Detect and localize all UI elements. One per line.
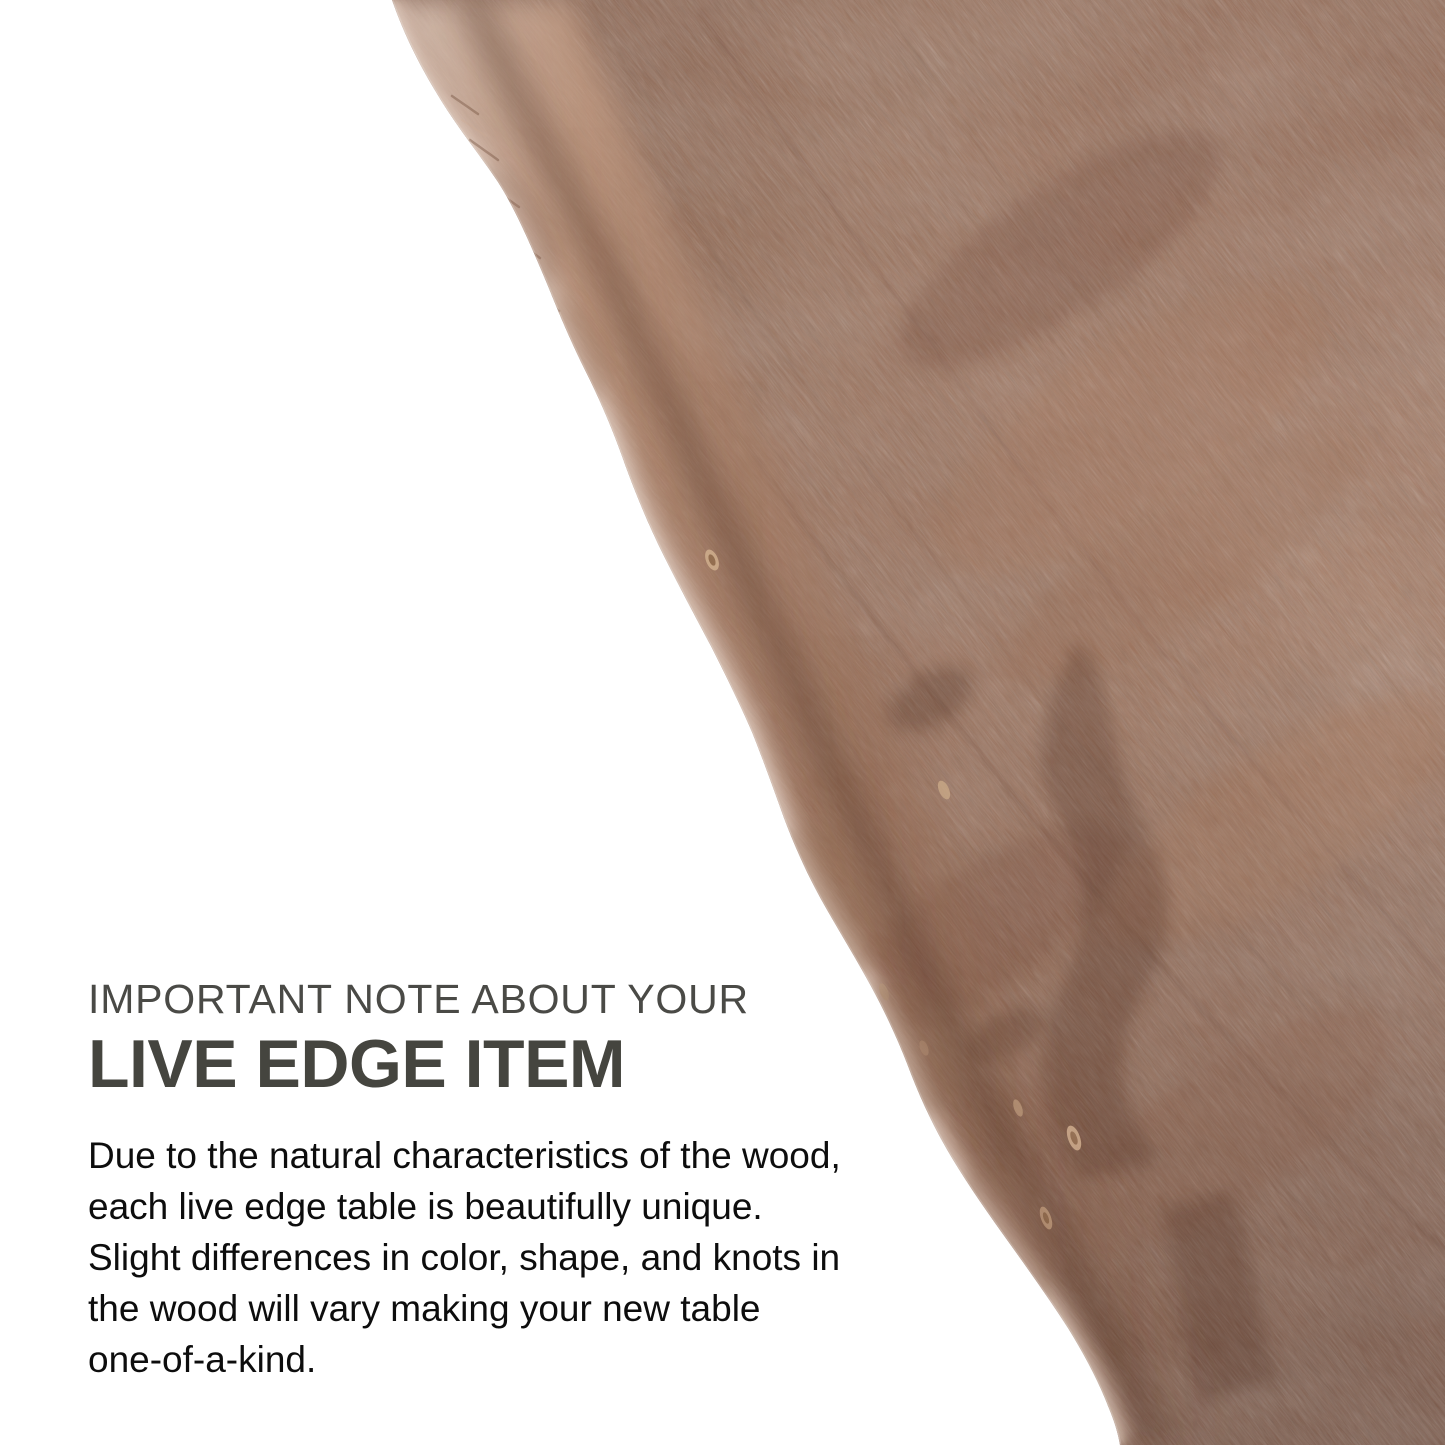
page-title: LIVE EDGE ITEM	[88, 1026, 848, 1102]
body-paragraph: Due to the natural characteristics of th…	[88, 1130, 848, 1385]
body-line: Slight differences in color, shape, and …	[88, 1232, 848, 1283]
note-text-block: IMPORTANT NOTE ABOUT YOUR LIVE EDGE ITEM…	[88, 975, 848, 1385]
product-note-card: IMPORTANT NOTE ABOUT YOUR LIVE EDGE ITEM…	[0, 0, 1445, 1445]
body-line: Due to the natural characteristics of th…	[88, 1130, 848, 1181]
eyebrow-heading: IMPORTANT NOTE ABOUT YOUR	[88, 975, 848, 1024]
body-line: each live edge table is beautifully uniq…	[88, 1181, 848, 1232]
body-line: one-of-a-kind.	[88, 1334, 848, 1385]
body-line: the wood will vary making your new table	[88, 1283, 848, 1334]
